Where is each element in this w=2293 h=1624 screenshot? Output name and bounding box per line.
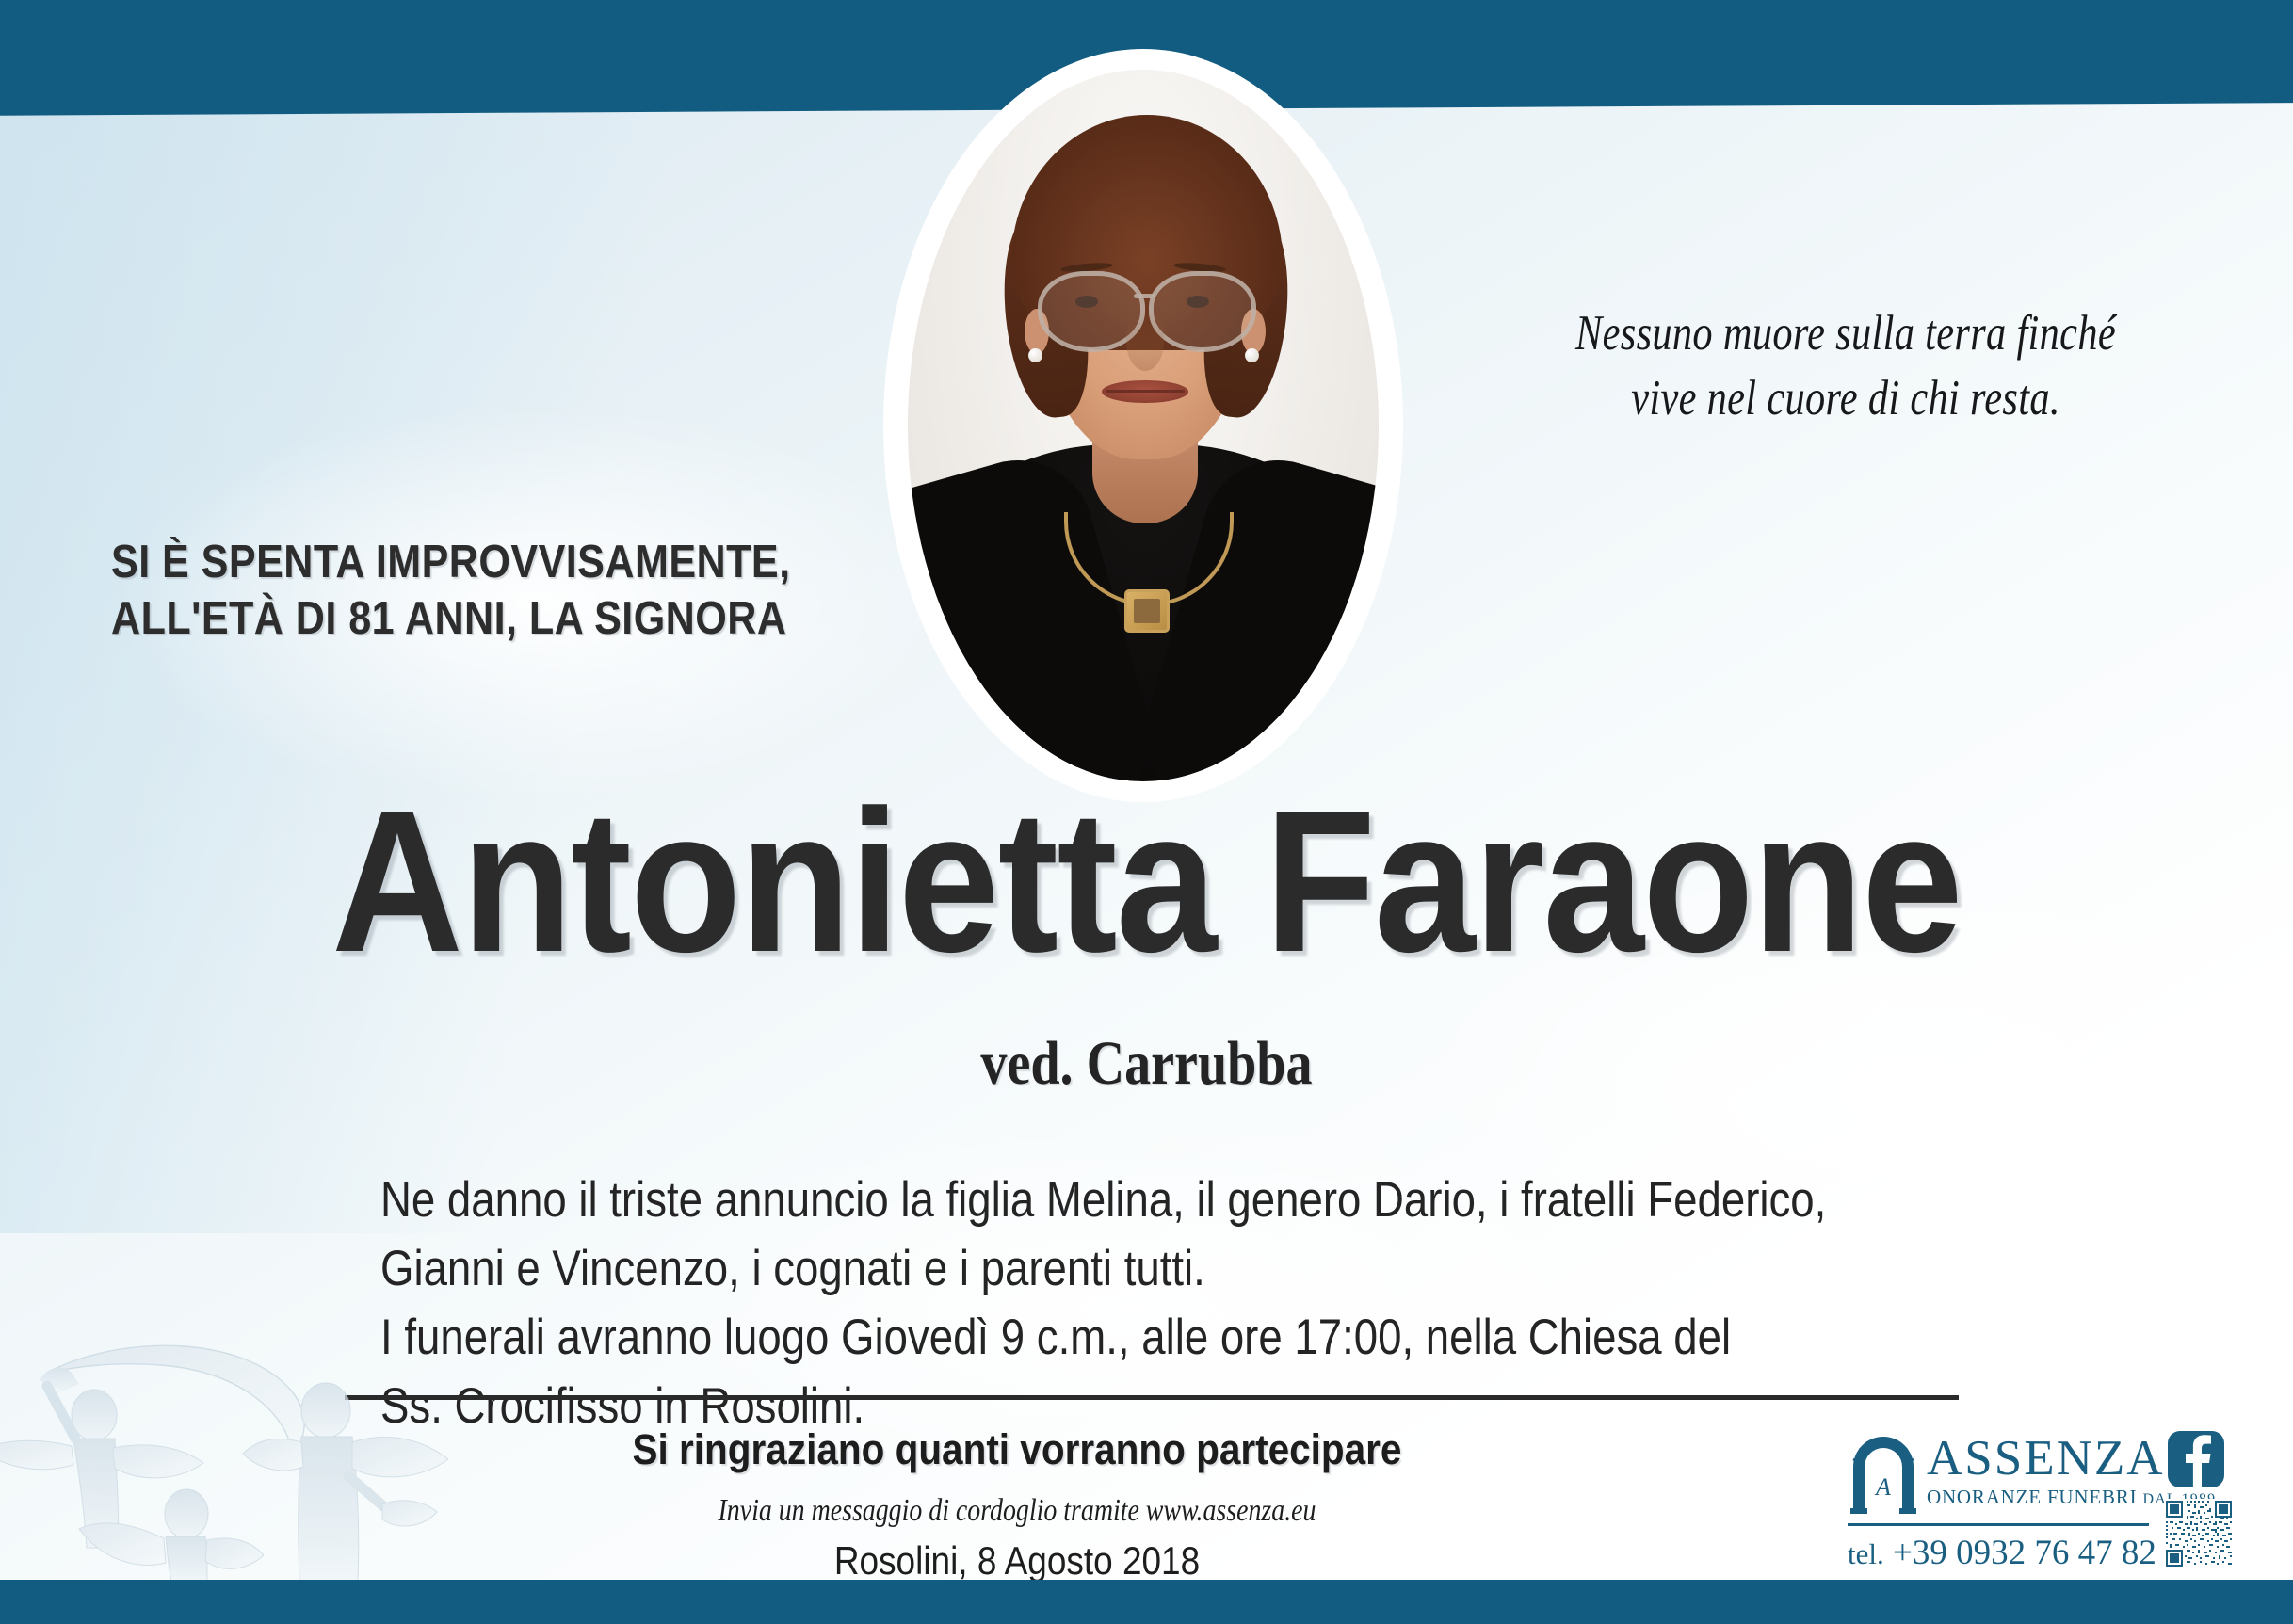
portrait-oval-frame — [883, 49, 1403, 802]
funeral-announcement-poster: Nessuno muore sulla terra finché vive ne… — [0, 0, 2293, 1624]
announcement-line-1: Ne danno il triste annuncio la figlia Me… — [380, 1166, 1757, 1234]
quote-line-2: vive nel cuore di chi resta. — [1529, 366, 2162, 431]
thanks-text: Si ringraziano quanti vorranno partecipa… — [356, 1425, 1678, 1474]
logo-phone[interactable]: tel. +39 0932 76 47 82 — [1848, 1533, 2149, 1573]
place-and-date: Rosolini, 8 Agosto 2018 — [371, 1538, 1664, 1584]
logo-tagline-text: ONORANZE FUNEBRI — [1927, 1486, 2137, 1508]
logo-phone-label: tel. — [1848, 1537, 1884, 1570]
deceased-widow-name: ved. Carrubba — [172, 1028, 2122, 1100]
qr-code-icon[interactable] — [2164, 1499, 2234, 1568]
announcement-line-2: Gianni e Vincenzo, i cognati e i parenti… — [380, 1234, 1757, 1303]
death-intro-text: SI È SPENTA IMPROVVISAMENTE, ALL'ETÀ DI … — [111, 535, 824, 648]
intro-line-1: SI È SPENTA IMPROVVISAMENTE, — [111, 535, 824, 591]
logo-divider — [1848, 1523, 2149, 1526]
facebook-icon[interactable] — [2168, 1431, 2224, 1487]
portrait — [883, 49, 1403, 802]
funeral-home-logo: A ASSENZA ONORANZE FUNEBRI DAL 1989 tel.… — [1848, 1429, 2149, 1580]
announcement-line-3: I funerali avranno luogo Giovedì 9 c.m.,… — [380, 1303, 1757, 1372]
logo-monogram-letter: A — [1874, 1473, 1891, 1501]
memorial-quote: Nessuno muore sulla terra finché vive ne… — [1529, 301, 2162, 431]
logo-tagline: ONORANZE FUNEBRI DAL 1989 — [1927, 1486, 2151, 1509]
condolence-message-note: Invia un messaggio di cordoglio tramite … — [414, 1493, 1619, 1529]
intro-line-2: ALL'ETÀ DI 81 ANNI, LA SIGNORA — [111, 591, 824, 648]
quote-line-1: Nessuno muore sulla terra finché — [1529, 301, 2162, 366]
portrait-photo — [908, 70, 1379, 781]
logo-brand-name: ASSENZA — [1927, 1435, 2151, 1483]
bottom-bar — [0, 1580, 2293, 1624]
divider-rule — [345, 1395, 1959, 1400]
logo-phone-number: +39 0932 76 47 82 — [1893, 1534, 2156, 1572]
arch-monogram-icon: A — [1848, 1433, 1919, 1514]
deceased-name: Antonietta Faraone — [115, 780, 2179, 982]
